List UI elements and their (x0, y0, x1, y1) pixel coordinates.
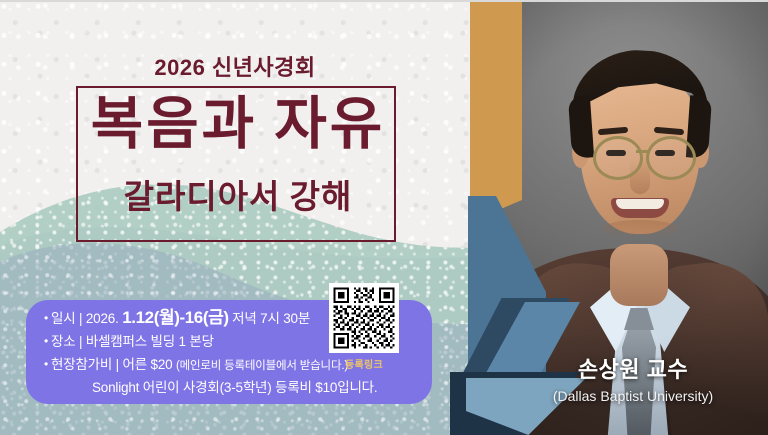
speaker-caption: 손상원 교수 (Dallas Baptist University) (498, 352, 768, 404)
title-main: 복음과 자유 (78, 96, 398, 153)
fee-text: 현장참가비 | 어른 $20 (51, 357, 176, 372)
fee-note: (메인로비 등록테이블에서 받습니다.) (176, 360, 348, 372)
qr-code-icon[interactable] (329, 283, 399, 353)
bullet-icon: • (44, 311, 48, 325)
event-kicker: 2026 신년사경회 (0, 50, 470, 82)
detail-line-children-fee: Sonlight 어린이 사경회(3-5학년) 등록비 $10입니다. (92, 381, 432, 395)
event-poster: 2026 신년사경회 복음과 자유 갈라디아서 강해 (0, 0, 768, 435)
title-frame: 복음과 자유 갈라디아서 강해 (76, 86, 396, 242)
top-border-line (0, 0, 768, 2)
speaker-name: 손상원 교수 (498, 352, 768, 384)
datetime-year: 2026. (86, 311, 122, 326)
location-text: 장소 | 바셀캠퍼스 빌딩 1 본당 (51, 334, 214, 349)
bullet-icon: • (44, 357, 48, 371)
registration-qr-block[interactable]: 등록링크 (327, 283, 401, 371)
datetime-time: 저녁 7시 30분 (229, 311, 310, 326)
qr-code-label: 등록링크 (327, 356, 401, 371)
speaker-organization: (Dallas Baptist University) (498, 388, 768, 404)
bullet-icon: • (44, 334, 48, 348)
title-subtitle: 갈라디아서 강해 (78, 182, 398, 215)
gold-accent-stripe (470, 0, 522, 200)
datetime-dates: 1.12(월)-16(금) (122, 308, 228, 327)
datetime-label: 일시 | (51, 311, 86, 326)
